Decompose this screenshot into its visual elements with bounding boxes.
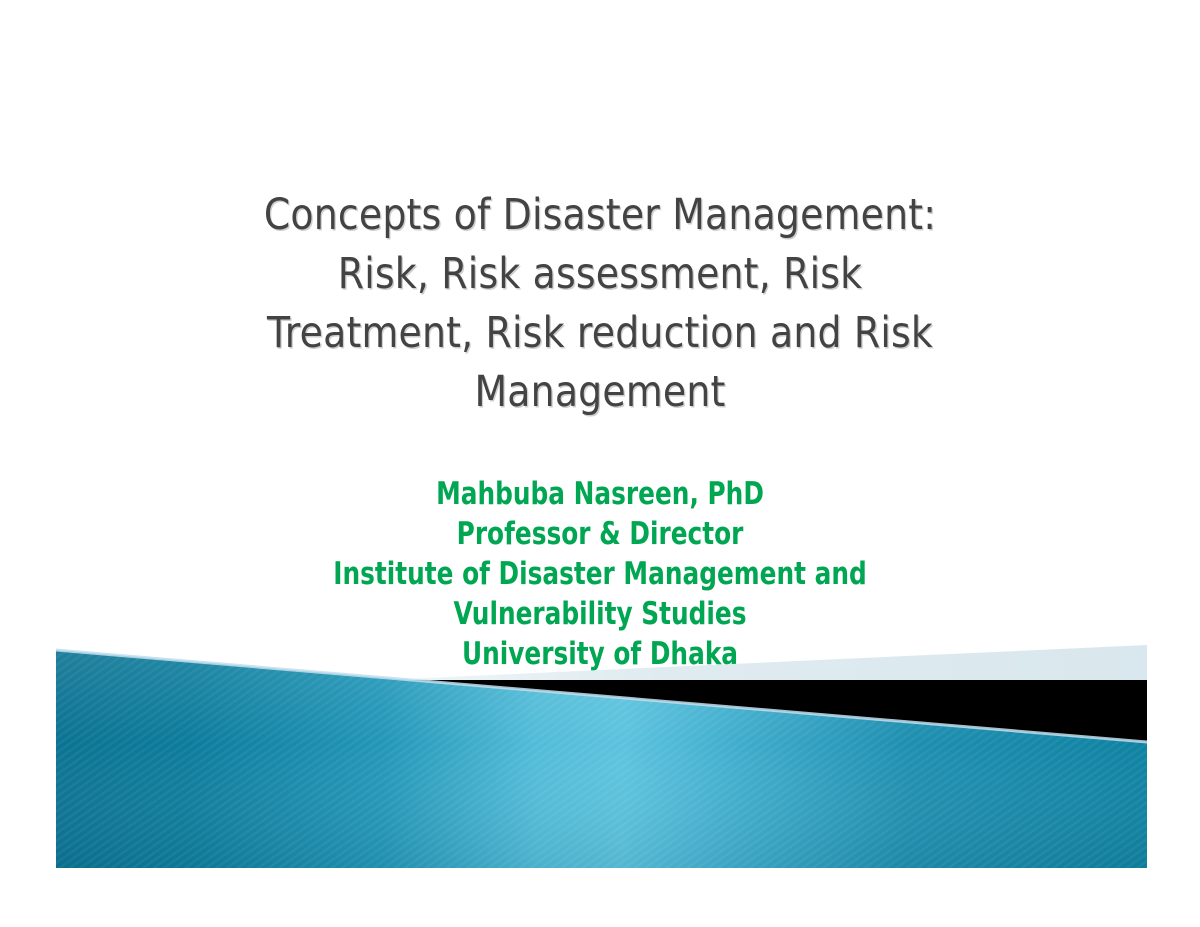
title-line-3: Treatment, Risk reduction and Risk — [160, 304, 1040, 363]
author-name: Mahbuba Nasreen, PhD — [200, 474, 1000, 514]
author-institute-line-1: Institute of Disaster Management and — [200, 554, 1000, 594]
title-line-1: Concepts of Disaster Management: — [160, 186, 1040, 245]
page-title: Concepts of Disaster Management: Risk, R… — [100, 186, 1100, 422]
presentation-slide: Concepts of Disaster Management: Risk, R… — [0, 0, 1200, 927]
author-role: Professor & Director — [200, 514, 1000, 554]
title-line-4: Management — [160, 363, 1040, 422]
author-institute-line-2: Vulnerability Studies — [200, 594, 1000, 634]
title-line-2: Risk, Risk assessment, Risk — [160, 245, 1040, 304]
decorative-banner — [0, 0, 1200, 927]
author-university: University of Dhaka — [200, 634, 1000, 674]
author-affiliation-block: Mahbuba Nasreen, PhD Professor & Directo… — [100, 474, 1100, 674]
